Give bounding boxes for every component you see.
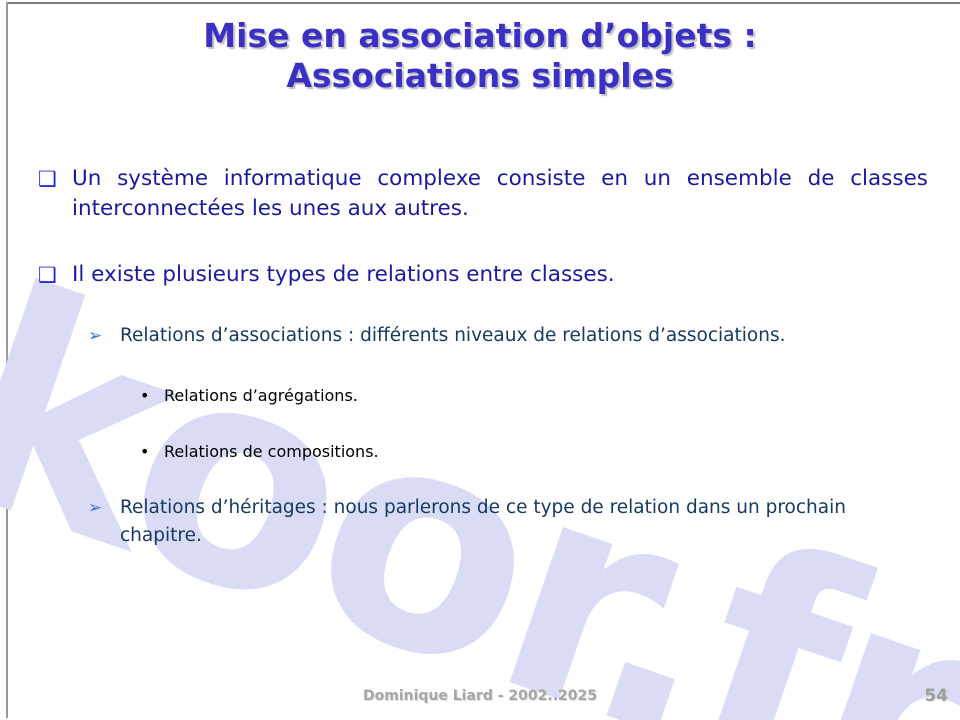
dot-bullet-icon: • [140,440,164,464]
arrow-bullet-icon: ➢ [88,494,120,522]
bullet-text-2: Il existe plusieurs types de relations e… [72,260,928,290]
bullet-item-2: ❑ Il existe plusieurs types de relations… [38,260,928,290]
square-bullet-icon: ❑ [38,164,72,194]
bullet-item-4: • Relations d’agrégations. [140,384,840,408]
slide-footer: Dominique Liard - 2002..2025 54 [0,680,960,720]
slide-title: Mise en association d’objets : Associati… [0,16,960,96]
bullet-item-3: ➢ Relations d’associations : différents … [88,322,908,350]
bullet-text-6: Relations d’héritages : nous parlerons d… [120,494,908,550]
slide-canvas: koor.fr Mise en association d’objets : A… [0,0,960,720]
bullet-text-4: Relations d’agrégations. [164,384,840,408]
bullet-text-5: Relations de compositions. [164,440,840,464]
bullet-item-5: • Relations de compositions. [140,440,840,464]
square-bullet-icon: ❑ [38,260,72,290]
arrow-bullet-icon: ➢ [88,322,120,350]
bullet-text-1: Un système informatique complexe consist… [72,164,928,224]
bullet-item-6: ➢ Relations d’héritages : nous parlerons… [88,494,908,550]
slide-content: ❑ Un système informatique complexe consi… [0,0,960,720]
footer-author: Dominique Liard - 2002..2025 [0,688,960,704]
bullet-text-3: Relations d’associations : différents ni… [120,322,908,350]
dot-bullet-icon: • [140,384,164,408]
page-number: 54 [924,686,948,706]
bullet-item-1: ❑ Un système informatique complexe consi… [38,164,928,224]
title-line-1: Mise en association d’objets : [0,16,960,56]
title-line-2: Associations simples [0,56,960,96]
